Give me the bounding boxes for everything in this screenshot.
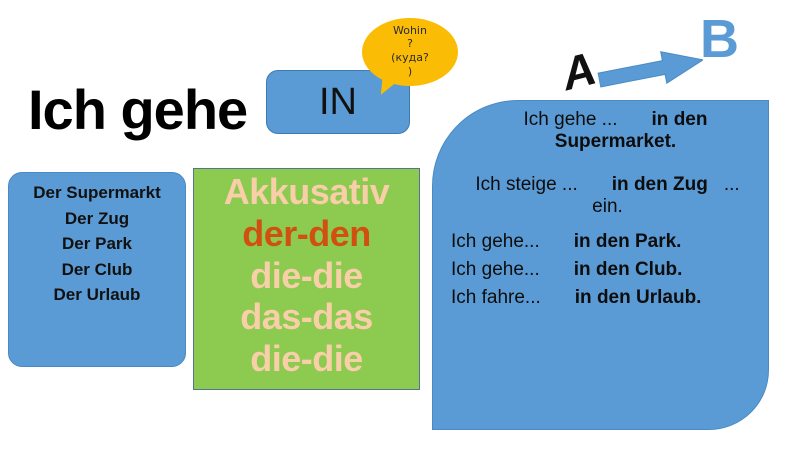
example-sentence: Ich fahre...in den Urlaub.: [451, 287, 754, 309]
point-b-label: B: [700, 12, 739, 66]
list-item: Der Urlaub: [9, 285, 185, 305]
case-row-der-den: der-den: [194, 213, 419, 255]
sentence-prefix: Ich gehe ...: [524, 109, 618, 130]
example-sentence: Ich gehe ...in den Supermarket.: [451, 109, 754, 154]
accusative-case-box: Akkusativ der-den die-die das-das die-di…: [193, 168, 420, 390]
sentence-highlight: in den Park.: [574, 231, 682, 252]
list-item: Der Club: [9, 260, 185, 280]
question-bubble-line-4: ): [391, 65, 429, 79]
example-sentence: Ich gehe...in den Club.: [451, 259, 754, 281]
case-row-die-die-1: die-die: [194, 255, 419, 297]
sentence-prefix: Ich gehe...: [451, 259, 540, 280]
sentence-highlight: in den Club.: [574, 259, 683, 280]
question-bubble-line-3: (куда?: [391, 51, 429, 65]
list-item: Der Supermarkt: [9, 183, 185, 203]
sentence-prefix: Ich fahre...: [451, 287, 541, 308]
example-sentences-panel: Ich gehe ...in den Supermarket. Ich stei…: [432, 100, 769, 430]
example-sentence: Ich gehe...in den Park.: [451, 231, 754, 253]
sentence-prefix: Ich steige ...: [475, 174, 577, 195]
point-a-label: A: [557, 45, 600, 98]
slide-canvas: Ich gehe IN Wohin ? (куда? ) A B Der Sup…: [0, 0, 800, 449]
list-item: Der Zug: [9, 209, 185, 229]
question-bubble-line-1: Wohin: [391, 24, 429, 38]
page-title: Ich gehe: [28, 82, 247, 138]
right-arrow-icon: [596, 42, 707, 98]
case-row-das-das: das-das: [194, 296, 419, 338]
list-item: Der Park: [9, 234, 185, 254]
case-row-die-die-2: die-die: [194, 338, 419, 380]
example-sentence: Ich steige ...in den Zug... ein.: [451, 174, 754, 219]
sentence-highlight: in den Zug: [612, 174, 708, 195]
question-bubble-text: Wohin ? (куда? ): [391, 24, 429, 81]
case-box-heading: Akkusativ: [194, 171, 419, 213]
question-bubble-line-2: ?: [391, 37, 429, 51]
sentence-prefix: Ich gehe...: [451, 231, 540, 252]
preposition-in-label: IN: [319, 83, 357, 121]
noun-list-box: Der Supermarkt Der Zug Der Park Der Club…: [8, 172, 186, 367]
question-bubble: Wohin ? (куда? ): [362, 18, 458, 86]
sentence-highlight: in den Urlaub.: [575, 287, 702, 308]
a-to-b-graphic: A B: [552, 8, 762, 94]
